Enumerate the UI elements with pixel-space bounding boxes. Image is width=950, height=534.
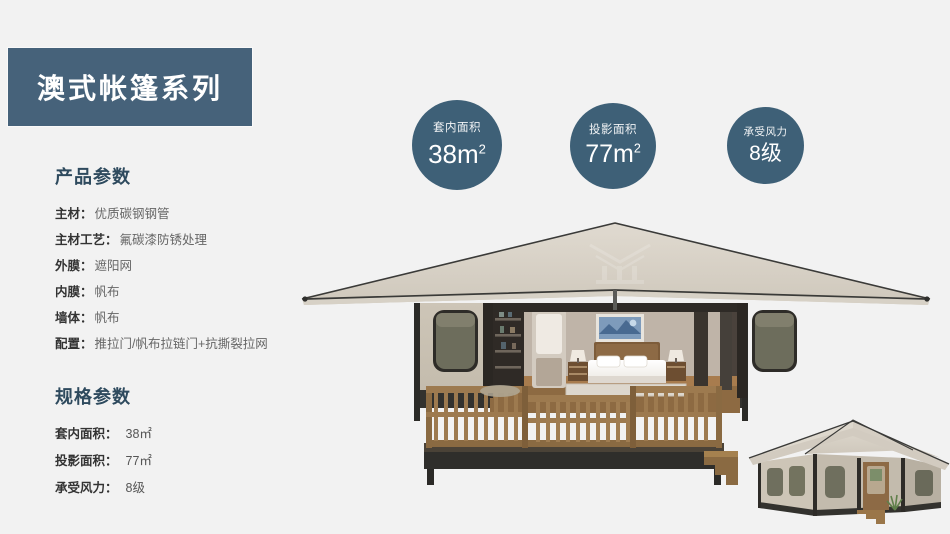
spec-value: 8级 <box>126 481 145 495</box>
stat-circle-wind-resistance: 承受风力 8级 <box>727 107 804 184</box>
spec-label: 投影面积： <box>55 454 118 468</box>
spec-label: 套内面积： <box>55 427 118 441</box>
param-label: 配置： <box>55 337 93 351</box>
window-right <box>752 310 797 372</box>
stat-value: 8级 <box>749 143 782 164</box>
param-value: 遮阳网 <box>95 259 133 273</box>
param-value: 氟碳漆防锈处理 <box>120 233 208 247</box>
param-value: 推拉门/帆布拉链门+抗撕裂拉网 <box>95 337 268 351</box>
door-frame-left <box>483 303 493 398</box>
stat-label: 套内面积 <box>433 123 481 135</box>
param-label: 内膜： <box>55 285 93 299</box>
stat-value: 38m2 <box>428 141 486 167</box>
param-label: 主材工艺： <box>55 233 118 247</box>
spec-value: 77㎡ <box>126 454 152 468</box>
param-value: 优质碳钢钢管 <box>95 207 170 221</box>
spec-label: 承受风力： <box>55 481 118 495</box>
tent-roof <box>302 222 930 310</box>
param-label: 外膜： <box>55 259 93 273</box>
param-value: 帆布 <box>95 311 120 325</box>
spec-value: 38㎡ <box>126 427 152 441</box>
window-left <box>433 310 478 372</box>
stat-label: 承受风力 <box>744 127 788 138</box>
slide-canvas: 澳式帐篷系列 产品参数 主材：优质碳钢钢管 主材工艺：氟碳漆防锈处理 外膜：遮阳… <box>0 0 950 534</box>
param-value: 帆布 <box>95 285 120 299</box>
stat-label: 投影面积 <box>589 125 637 137</box>
door-frame-right <box>737 303 747 398</box>
stat-circle-projected-area: 投影面积 77m2 <box>570 103 656 189</box>
stat-circle-interior-area: 套内面积 38m2 <box>412 100 502 190</box>
param-label: 主材： <box>55 207 93 221</box>
title-banner: 澳式帐篷系列 <box>8 48 252 126</box>
small-tent-illustration <box>745 410 950 534</box>
stat-value: 77m2 <box>585 142 641 167</box>
page-title: 澳式帐篷系列 <box>37 67 223 107</box>
product-params-heading: 产品参数 <box>55 163 385 189</box>
param-label: 墙体： <box>55 311 93 325</box>
